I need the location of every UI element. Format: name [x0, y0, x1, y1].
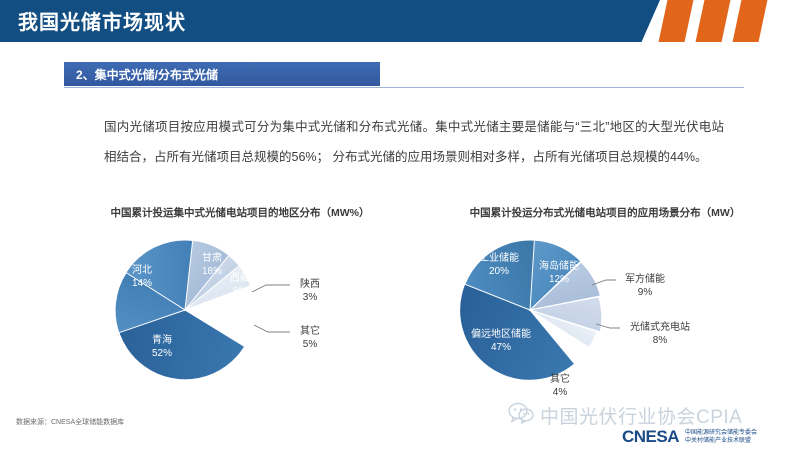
pie-left-slices — [89, 230, 282, 405]
leader-shaanxi — [252, 285, 290, 292]
body-paragraph: 国内光储项目按应用模式可分为集中式光储和分布式光储。集中式光储主要是储能与“三北… — [104, 112, 724, 172]
wechat-icon — [508, 402, 534, 429]
cnesa-logo-sub: 中国能源研究会储能专委会 中关村储能产业技术联盟 — [685, 429, 757, 445]
pie-right-svg — [420, 230, 790, 405]
section-header-bar: 2、集中式光储/分布式光储 — [64, 62, 380, 86]
header-stripe-3 — [733, 0, 768, 42]
chart-right-canvas: 偏远地区储能 47% 工业储能 20% 海岛储能 12% 军方储能 9% 光储式… — [420, 230, 790, 405]
page-header: 我国光储市场现状 — [0, 0, 800, 42]
pie-right-slices — [431, 230, 622, 405]
chart-application-distribution: 中国累计投运分布式光储电站项目的应用场景分布（MW） — [420, 205, 790, 405]
page-title: 我国光储市场现状 — [18, 6, 186, 35]
watermark: 中国光伏行业协会CPIA — [508, 402, 742, 429]
chart-regional-distribution: 中国累计投运集中式光储电站项目的地区分布（MW%） — [60, 205, 420, 405]
leader-qita — [254, 325, 290, 332]
chart-left-canvas: 青海 52% 甘肃 18% 河北 14% 西藏 8% 陕西 3% 其它 5% — [60, 230, 420, 405]
cnesa-wordmark: CNESA — [622, 427, 679, 447]
header-stripe-2 — [696, 0, 731, 42]
chart-right-title: 中国累计投运分布式光储电站项目的应用场景分布（MW） — [420, 205, 790, 220]
pie-left-leaders — [252, 285, 290, 332]
cnesa-sub-line1: 中国能源研究会储能专委会 — [685, 429, 757, 437]
pie-left-svg — [60, 230, 420, 405]
watermark-text: 中国光伏行业协会CPIA — [540, 402, 742, 429]
section-divider — [64, 87, 744, 88]
header-stripe-1 — [659, 0, 694, 42]
chart-left-title: 中国累计投运集中式光储电站项目的地区分布（MW%） — [60, 205, 420, 220]
section-header-label: 2、集中式光储/分布式光储 — [64, 66, 218, 83]
cnesa-sub-line2: 中关村储能产业技术联盟 — [685, 437, 757, 445]
cnesa-logo: CNESA 中国能源研究会储能专委会 中关村储能产业技术联盟 — [622, 427, 757, 447]
source-note: 数据来源：CNESA全球储能数据库 — [16, 417, 124, 427]
